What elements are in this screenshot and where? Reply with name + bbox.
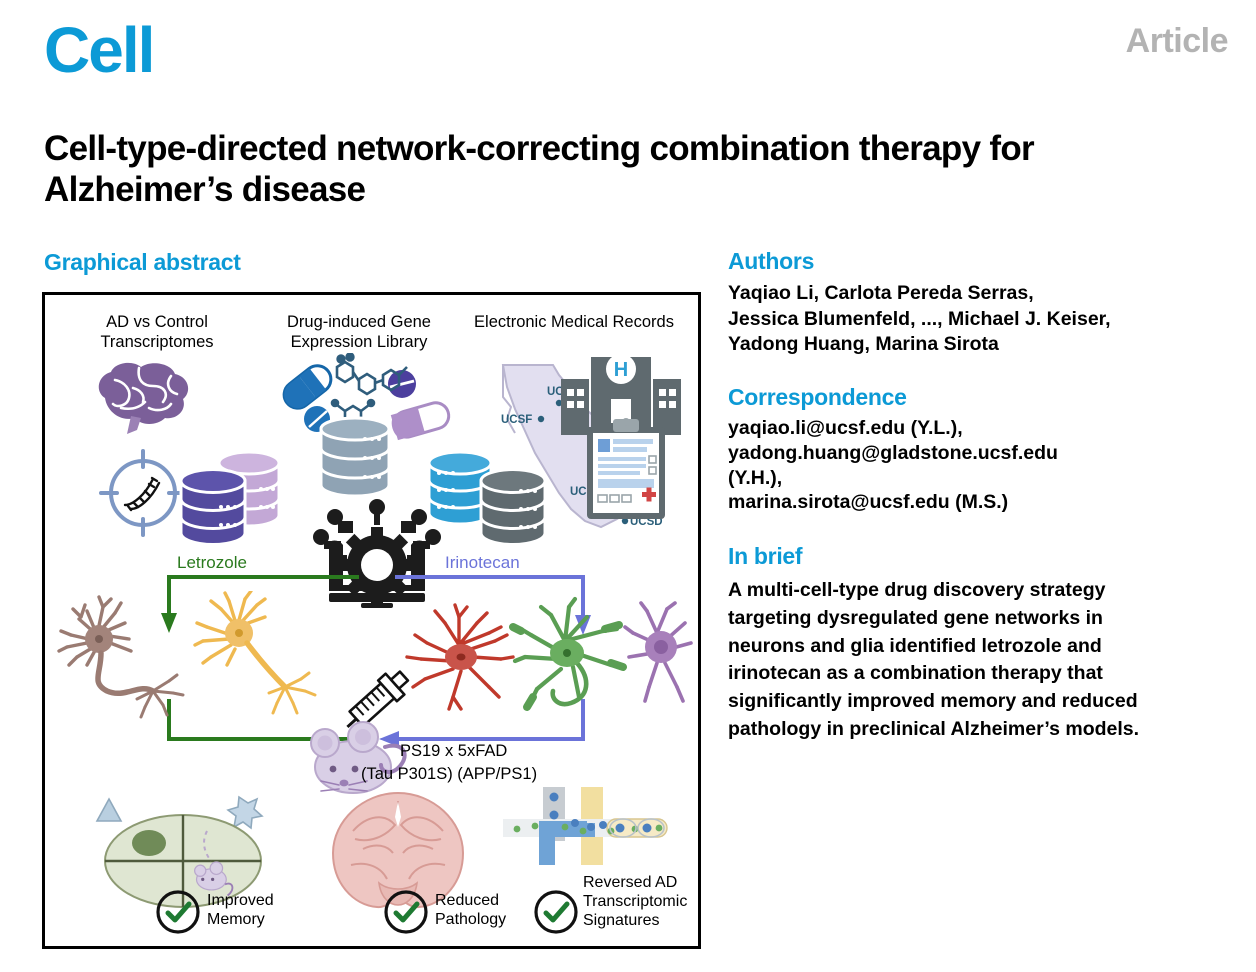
database-purple-icon xyxy=(175,445,303,551)
article-type-tag: Article xyxy=(1126,22,1228,61)
outcome-line: Memory xyxy=(207,910,274,929)
database-slate-icon xyxy=(317,415,393,501)
hospital-h-symbol: H xyxy=(614,359,628,381)
medical-record-clipboard-icon xyxy=(585,417,667,521)
brain-icon xyxy=(87,358,197,440)
right-column: Authors Yaqiao Li, Carlota Pereda Serras… xyxy=(728,248,1168,744)
in-brief-heading: In brief xyxy=(728,543,1168,570)
outcome-line: Transcriptomic xyxy=(583,892,687,911)
neuron-orange-icon xyxy=(193,591,333,721)
authors-list: Yaqiao Li, Carlota Pereda Serras, Jessic… xyxy=(728,281,1168,358)
paper-cover-page: Cell Article Cell-type-directed network-… xyxy=(0,0,1256,972)
correspondence-email[interactable]: marina.sirota@ucsf.edu (M.S.) xyxy=(728,490,1168,515)
letrozole-label: Letrozole xyxy=(177,553,247,573)
check-badge-icon xyxy=(533,889,579,935)
outcome-label-reversed-signatures: Reversed AD Transcriptomic Signatures xyxy=(583,873,687,931)
authors-line: Yaqiao Li, Carlota Pereda Serras, xyxy=(728,281,1168,307)
correspondence-email[interactable]: yaqiao.li@ucsf.edu (Y.L.), xyxy=(728,416,1168,441)
correspondence-email[interactable]: yadong.huang@gladstone.ucsf.edu xyxy=(728,441,1168,466)
correspondence-list: yaqiao.li@ucsf.edu (Y.L.), yadong.huang@… xyxy=(728,416,1168,516)
page-title: Cell-type-directed network-correcting co… xyxy=(44,128,1094,211)
check-badge-icon xyxy=(383,889,429,935)
authors-line: Jessica Blumenfeld, ..., Michael J. Keis… xyxy=(728,307,1168,333)
journal-logo: Cell xyxy=(44,18,153,82)
outcome-line: Reduced xyxy=(435,891,506,910)
outcome-line: Reversed AD xyxy=(583,873,687,892)
figure-column-header-transcriptomes: AD vs Control Transcriptomes xyxy=(59,312,255,352)
authors-heading: Authors xyxy=(728,248,1168,275)
outcome-label-reduced-pathology: Reduced Pathology xyxy=(435,891,506,929)
astrocyte-green-icon xyxy=(507,593,633,717)
oligodendrocyte-purple-icon xyxy=(619,601,697,709)
irinotecan-label: Irinotecan xyxy=(445,553,520,573)
figure-column-header-emr: Electronic Medical Records xyxy=(463,312,685,332)
graphical-abstract-figure: AD vs Control Transcriptomes Drug-induce… xyxy=(42,292,701,949)
transcriptomic-signature-icon xyxy=(495,783,681,875)
map-point-ucsf xyxy=(538,416,544,422)
correspondence-heading: Correspondence xyxy=(728,384,1168,411)
mouse-genes-label: (Tau P301S) (APP/PS1) xyxy=(361,765,537,784)
outcome-line: Signatures xyxy=(583,911,687,930)
in-brief-text: A multi-cell-type drug discovery strateg… xyxy=(728,577,1168,743)
neuron-brown-icon xyxy=(57,595,207,725)
mouse-cross-label: PS19 x 5xFAD xyxy=(400,742,507,761)
map-label-ucsf: UCSF xyxy=(501,414,532,426)
outcome-label-improved-memory: Improved Memory xyxy=(207,891,274,929)
graphical-abstract-heading: Graphical abstract xyxy=(44,249,241,276)
figure-column-header-drug-library: Drug-induced Gene Expression Library xyxy=(257,312,461,352)
outcome-line: Improved xyxy=(207,891,274,910)
outcome-line: Pathology xyxy=(435,910,506,929)
check-badge-icon xyxy=(155,889,201,935)
correspondence-line: (Y.H.), xyxy=(728,466,1168,491)
authors-line: Yadong Huang, Marina Sirota xyxy=(728,332,1168,358)
